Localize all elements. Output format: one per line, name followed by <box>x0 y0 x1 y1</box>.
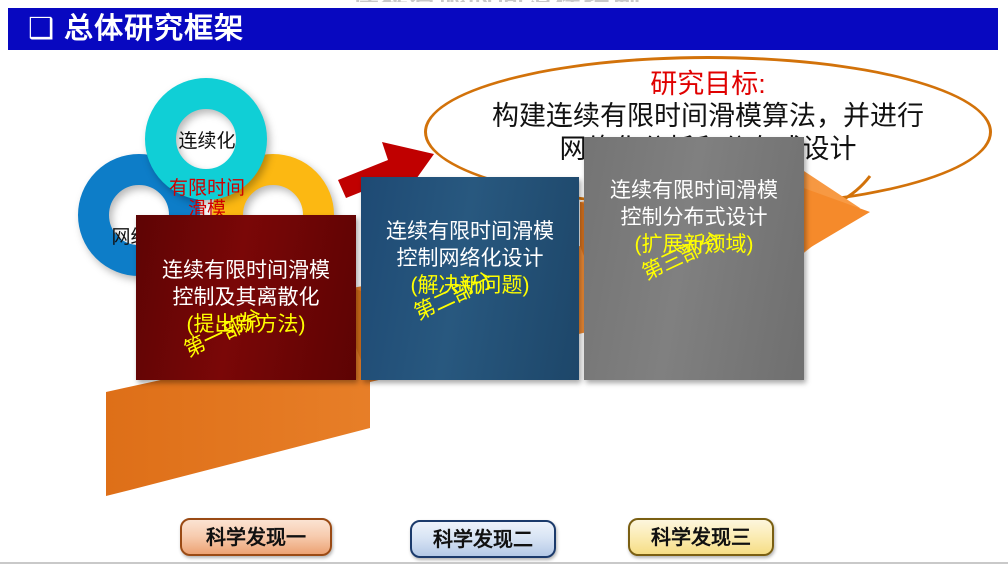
slide-canvas: 连续有限时间滑模控制 ❑ 总体研究框架 连续化 网络化 分布化 有限时间 滑模 … <box>0 0 1008 564</box>
stair-panel-2-line2: 控制网络化设计 <box>361 245 579 272</box>
stair-panel-2-line1: 连续有限时间滑模 <box>361 218 579 245</box>
staircase-panels: 连续有限时间滑模 控制及其离散化 (提出新方法) 连续有限时间滑模 控制网络化设… <box>0 0 1008 350</box>
stair-panel-3-line1: 连续有限时间滑模 <box>584 177 804 204</box>
findings-badge-row: 科学发现一 科学发现二 科学发现三 <box>0 516 1008 560</box>
badge-finding-3[interactable]: 科学发现三 <box>628 518 774 556</box>
badge-finding-2[interactable]: 科学发现二 <box>410 520 556 558</box>
stair-panel-1: 连续有限时间滑模 控制及其离散化 (提出新方法) <box>136 215 356 380</box>
stair-panel-3-line2: 控制分布式设计 <box>584 204 804 231</box>
badge-finding-1[interactable]: 科学发现一 <box>180 518 332 556</box>
stair-panel-1-line1: 连续有限时间滑模 <box>136 257 356 284</box>
